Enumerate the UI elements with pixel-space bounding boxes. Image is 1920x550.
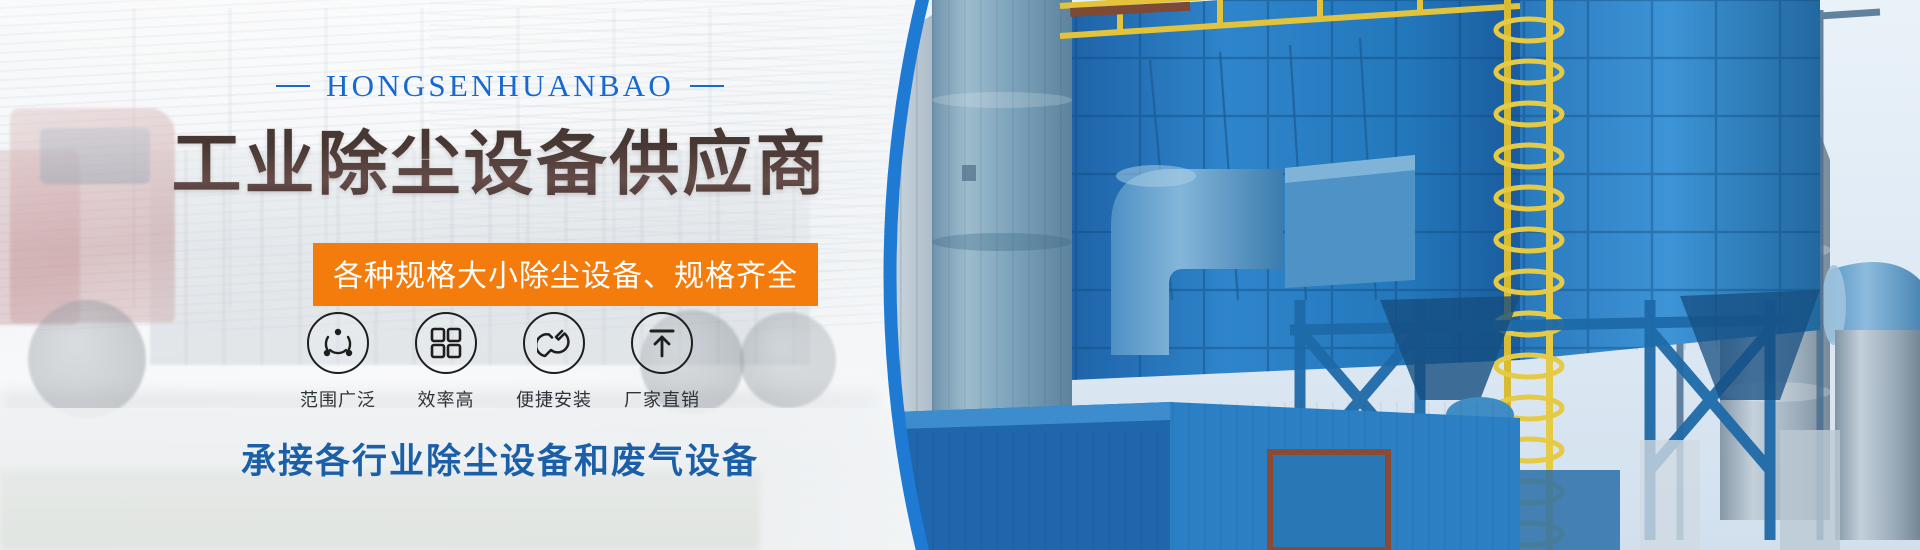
feature-item-installation[interactable]: 便捷安装 <box>500 312 608 412</box>
subtitle-badge: 各种规格大小除尘设备、规格齐全 <box>313 243 818 306</box>
feature-item-scope[interactable]: 范围广泛 <box>284 312 392 412</box>
feature-icon-ring-4 <box>631 312 693 374</box>
feature-icon-ring-3 <box>523 312 585 374</box>
feature-item-factory-direct[interactable]: 厂家直销 <box>608 312 716 412</box>
eyebrow-dash-left <box>276 85 310 87</box>
feature-label-scope: 范围广泛 <box>284 386 392 412</box>
feature-item-efficiency[interactable]: 效率高 <box>392 312 500 412</box>
feature-icon-ring-2 <box>415 312 477 374</box>
eyebrow-dash-right <box>690 85 724 87</box>
grid-blocks-icon <box>430 327 462 359</box>
eyebrow-text: HONGSENHUANBAO <box>326 68 674 103</box>
feature-icon-ring-1 <box>307 312 369 374</box>
feature-label-factory-direct: 厂家直销 <box>608 386 716 412</box>
up-arrow-bar-icon <box>646 326 678 360</box>
banner-tagline: 承接各行业除尘设备和废气设备 <box>0 433 1000 484</box>
wrench-icon <box>537 326 571 360</box>
scope-nodes-icon <box>321 326 355 360</box>
hero-banner: HONGSENHUANBAO 工业除尘设备供应商 各种规格大小除尘设备、规格齐全… <box>0 0 1920 550</box>
page-title: 工业除尘设备供应商 <box>0 108 1000 209</box>
feature-label-installation: 便捷安装 <box>500 386 608 412</box>
feature-list: 范围广泛 效率高 <box>0 312 1000 412</box>
banner-copy: HONGSENHUANBAO 工业除尘设备供应商 各种规格大小除尘设备、规格齐全… <box>0 0 1120 550</box>
brand-eyebrow: HONGSENHUANBAO <box>0 68 1000 104</box>
feature-label-efficiency: 效率高 <box>392 386 500 412</box>
